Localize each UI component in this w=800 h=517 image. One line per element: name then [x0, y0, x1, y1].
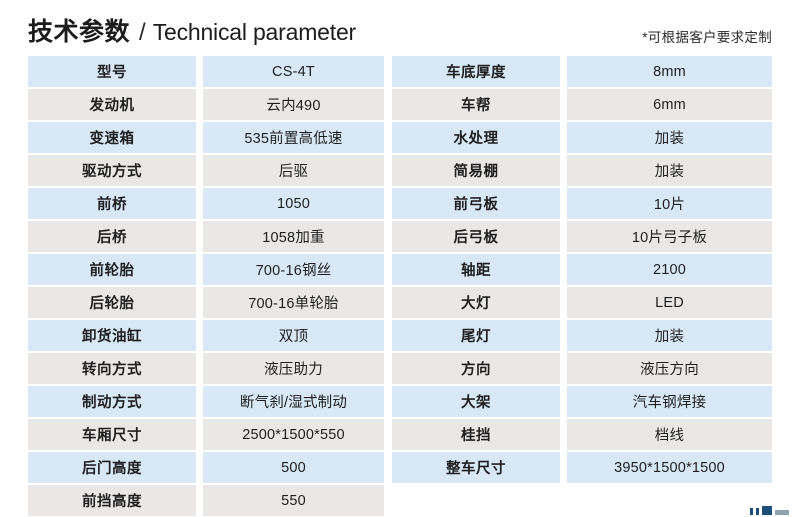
spec-label: 转向方式	[28, 353, 196, 384]
spec-sheet-page: 技术参数 / Technical parameter *可根据客户要求定制 型号…	[0, 0, 800, 517]
spec-value: 档线	[567, 419, 772, 450]
page-title: 技术参数 / Technical parameter	[28, 12, 356, 48]
spec-value: LED	[567, 287, 772, 318]
spec-label: 轴距	[392, 254, 560, 285]
spec-label: 前挡高度	[28, 485, 196, 516]
spec-label: 大灯	[392, 287, 560, 318]
spec-label: 后门高度	[28, 452, 196, 483]
spec-row: 卸货油缸双顶	[28, 320, 384, 351]
spec-label: 尾灯	[392, 320, 560, 351]
spec-label: 大架	[392, 386, 560, 417]
spec-row: 发动机云内490	[28, 89, 384, 120]
spec-label: 前桥	[28, 188, 196, 219]
spec-row: 尾灯加装	[392, 320, 772, 351]
spec-label: 制动方式	[28, 386, 196, 417]
spec-row: 变速箱535前置高低速	[28, 122, 384, 153]
spec-row: 水处理加装	[392, 122, 772, 153]
spec-label: 型号	[28, 56, 196, 87]
spec-row: 前挡高度550	[28, 485, 384, 516]
spec-row: 前弓板10片	[392, 188, 772, 219]
customization-note: *可根据客户要求定制	[642, 26, 772, 46]
spec-value: 500	[203, 452, 384, 483]
spec-value: 10片弓子板	[567, 221, 772, 252]
spec-value: 700-16单轮胎	[203, 287, 384, 318]
spec-value: 汽车钢焊接	[567, 386, 772, 417]
spec-label: 方向	[392, 353, 560, 384]
spec-table-right: 车底厚度8mm车帮6mm水处理加装简易棚加装前弓板10片后弓板10片弓子板轴距2…	[392, 56, 772, 485]
spec-label: 后弓板	[392, 221, 560, 252]
spec-row: 转向方式液压助力	[28, 353, 384, 384]
spec-label: 简易棚	[392, 155, 560, 186]
spec-value: 液压助力	[203, 353, 384, 384]
brand-logo-icon	[750, 503, 794, 515]
spec-label: 车厢尺寸	[28, 419, 196, 450]
spec-value: 2100	[567, 254, 772, 285]
spec-label: 车底厚度	[392, 56, 560, 87]
spec-row: 方向液压方向	[392, 353, 772, 384]
spec-row: 型号CS-4T	[28, 56, 384, 87]
spec-row: 驱动方式后驱	[28, 155, 384, 186]
spec-value: 2500*1500*550	[203, 419, 384, 450]
spec-row: 整车尺寸3950*1500*1500	[392, 452, 772, 483]
page-header: 技术参数 / Technical parameter *可根据客户要求定制	[0, 0, 800, 55]
spec-row: 后轮胎700-16单轮胎	[28, 287, 384, 318]
spec-row: 桂挡档线	[392, 419, 772, 450]
spec-value: 10片	[567, 188, 772, 219]
spec-value: 3950*1500*1500	[567, 452, 772, 483]
spec-label: 后轮胎	[28, 287, 196, 318]
spec-label: 整车尺寸	[392, 452, 560, 483]
page-title-en: Technical parameter	[153, 19, 356, 46]
spec-value: 加装	[567, 155, 772, 186]
spec-value: 700-16钢丝	[203, 254, 384, 285]
spec-value: 液压方向	[567, 353, 772, 384]
spec-row: 车底厚度8mm	[392, 56, 772, 87]
spec-label: 车帮	[392, 89, 560, 120]
title-separator: /	[139, 19, 146, 47]
spec-value: 后驱	[203, 155, 384, 186]
spec-row: 制动方式断气刹/湿式制动	[28, 386, 384, 417]
spec-label: 桂挡	[392, 419, 560, 450]
spec-label: 水处理	[392, 122, 560, 153]
spec-value: 535前置高低速	[203, 122, 384, 153]
spec-row: 后门高度500	[28, 452, 384, 483]
spec-row: 轴距2100	[392, 254, 772, 285]
spec-label: 卸货油缸	[28, 320, 196, 351]
spec-row: 后弓板10片弓子板	[392, 221, 772, 252]
spec-row: 前轮胎700-16钢丝	[28, 254, 384, 285]
spec-table-left: 型号CS-4T发动机云内490变速箱535前置高低速驱动方式后驱前桥1050后桥…	[28, 56, 384, 517]
spec-value: 8mm	[567, 56, 772, 87]
spec-row: 简易棚加装	[392, 155, 772, 186]
spec-value: 1050	[203, 188, 384, 219]
spec-label: 前弓板	[392, 188, 560, 219]
spec-label: 前轮胎	[28, 254, 196, 285]
spec-row: 大架汽车钢焊接	[392, 386, 772, 417]
spec-row: 车帮6mm	[392, 89, 772, 120]
spec-value: 断气刹/湿式制动	[203, 386, 384, 417]
spec-row: 后桥1058加重	[28, 221, 384, 252]
spec-value: 加装	[567, 122, 772, 153]
spec-row: 大灯LED	[392, 287, 772, 318]
spec-label: 驱动方式	[28, 155, 196, 186]
spec-value: 加装	[567, 320, 772, 351]
spec-value: 双顶	[203, 320, 384, 351]
spec-value: 1058加重	[203, 221, 384, 252]
spec-value: CS-4T	[203, 56, 384, 87]
spec-value: 550	[203, 485, 384, 516]
spec-label: 发动机	[28, 89, 196, 120]
spec-row: 车厢尺寸2500*1500*550	[28, 419, 384, 450]
spec-row: 前桥1050	[28, 188, 384, 219]
spec-label: 后桥	[28, 221, 196, 252]
spec-value: 6mm	[567, 89, 772, 120]
spec-value: 云内490	[203, 89, 384, 120]
page-title-cn: 技术参数	[28, 12, 130, 48]
spec-label: 变速箱	[28, 122, 196, 153]
